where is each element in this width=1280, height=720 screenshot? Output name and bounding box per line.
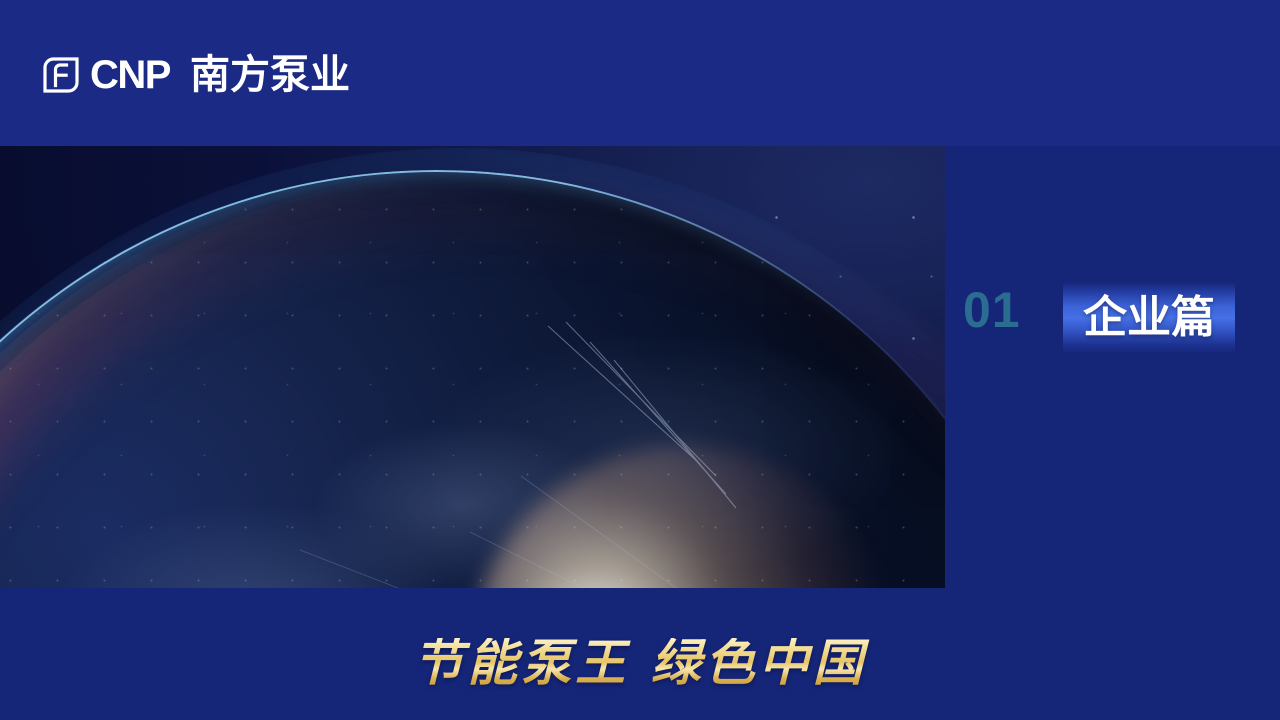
section-title: 企业篇 xyxy=(1083,296,1215,340)
presentation-slide: CNP 南方泵业 xyxy=(0,0,1280,720)
company-logo[interactable]: CNP 南方泵业 xyxy=(42,50,350,100)
satellite-streaks xyxy=(0,146,945,588)
section-index: 01 xyxy=(963,285,1021,335)
section-title-highlight: 企业篇 xyxy=(1063,282,1235,354)
hero-image-earth xyxy=(0,146,945,588)
cnp-monogram-icon xyxy=(42,56,80,94)
brand-latin-name: CNP xyxy=(90,55,170,95)
footer-slogan: 节能泵王 绿色中国 xyxy=(0,638,1280,688)
brand-chinese-name: 南方泵业 xyxy=(190,55,350,95)
